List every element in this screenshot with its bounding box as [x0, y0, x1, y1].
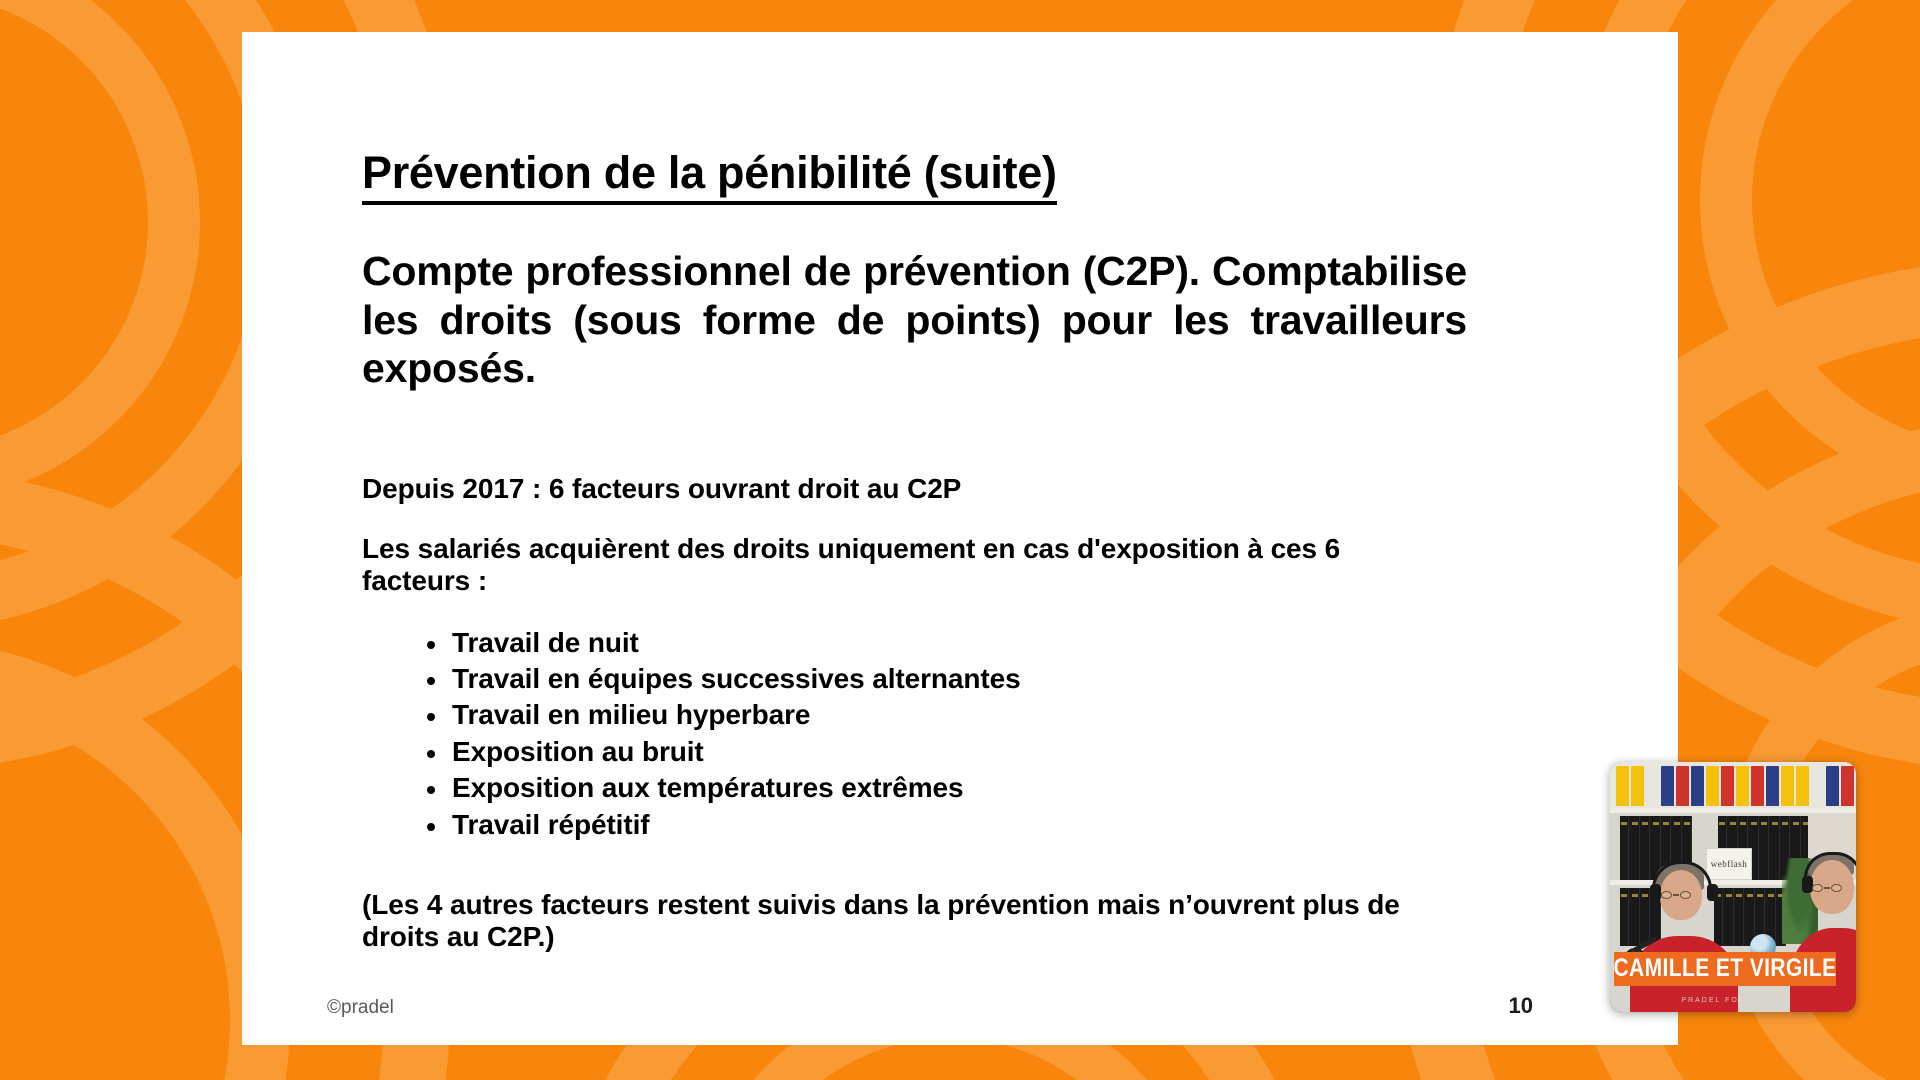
page-number: 10 [1509, 993, 1533, 1019]
headphones-icon [1804, 852, 1856, 878]
note-paragraph: (Les 4 autres facteurs restent suivis da… [362, 889, 1422, 952]
headphone-earcup [1650, 884, 1661, 901]
binder-row-top [1616, 766, 1854, 806]
binder [1646, 766, 1659, 806]
since-line: Depuis 2017 : 6 facteurs ouvrant droit a… [362, 473, 1482, 505]
eyeglasses-bridge [1673, 894, 1679, 896]
video-banner-subtitle: PRADEL FORMATION [1610, 997, 1856, 1004]
headphone-earcup [1707, 884, 1718, 901]
eyeglasses-icon [1661, 891, 1672, 899]
book [1771, 816, 1780, 880]
eyeglasses-icon [1831, 884, 1842, 892]
binder [1766, 766, 1779, 806]
slide-panel: Prévention de la pénibilité (suite) Comp… [242, 32, 1678, 1045]
slide-content: Prévention de la pénibilité (suite) Comp… [362, 149, 1482, 952]
binder [1841, 766, 1854, 806]
list-item: Travail de nuit [424, 625, 1482, 661]
binder [1826, 766, 1839, 806]
shelf-board [1610, 808, 1856, 813]
binder [1676, 766, 1689, 806]
list-item: Travail en milieu hyperbare [424, 697, 1482, 733]
binder [1751, 766, 1764, 806]
page-title: Prévention de la pénibilité (suite) [362, 149, 1057, 205]
binder [1706, 766, 1719, 806]
person-right [1796, 854, 1856, 1012]
list-item: Travail répétitif [424, 807, 1482, 843]
book [1760, 816, 1769, 880]
binder [1811, 766, 1824, 806]
eyeglasses-icon [1680, 891, 1691, 899]
copyright-label: ©pradel [327, 997, 394, 1019]
eyeglasses-bridge [1824, 887, 1830, 889]
condition-line: Les salariés acquièrent des droits uniqu… [362, 533, 1452, 596]
binder [1661, 766, 1674, 806]
video-banner-title: CAMILLE ET VIRGILE [1613, 955, 1836, 983]
list-item: Exposition au bruit [424, 734, 1482, 770]
headphones-icon [1652, 861, 1712, 889]
binder [1781, 766, 1794, 806]
factors-list: Travail de nuit Travail en équipes succe… [424, 625, 1482, 843]
video-overlay[interactable]: webflash [1610, 762, 1856, 1012]
binder [1616, 766, 1629, 806]
video-banner: CAMILLE ET VIRGILE [1614, 952, 1836, 986]
binder [1631, 766, 1644, 806]
binder [1796, 766, 1809, 806]
binder [1721, 766, 1734, 806]
headphone-earcup [1802, 876, 1813, 893]
list-item: Travail en équipes successives alternant… [424, 661, 1482, 697]
lead-paragraph: Compte professionnel de prévention (C2P)… [362, 247, 1467, 441]
binder [1691, 766, 1704, 806]
background-arc-decoration [1700, 0, 1920, 500]
binder [1736, 766, 1749, 806]
background-arc-decoration [0, 0, 200, 502]
person-left [1628, 860, 1738, 1012]
slide-stage: Prévention de la pénibilité (suite) Comp… [0, 0, 1920, 1080]
eyeglasses-icon [1812, 884, 1823, 892]
list-item: Exposition aux températures extrêmes [424, 770, 1482, 806]
background-arc-decoration [0, 0, 150, 10]
